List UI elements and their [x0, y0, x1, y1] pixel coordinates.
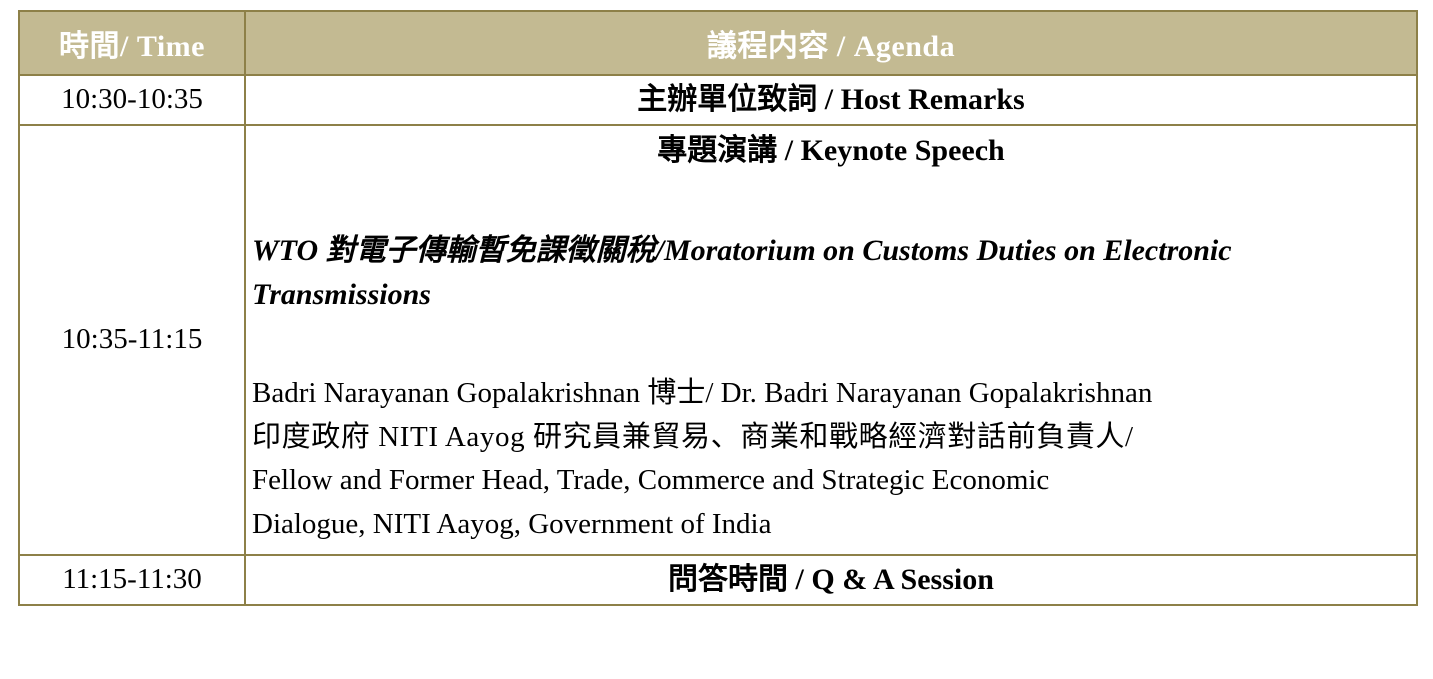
cell-agenda-qa-session: 問答時間 / Q & A Session: [245, 555, 1417, 605]
table-header-row: 時間/ Time 議程内容 / Agenda: [19, 11, 1417, 75]
table-row: 11:15-11:30 問答時間 / Q & A Session: [19, 555, 1417, 605]
column-header-agenda: 議程内容 / Agenda: [245, 11, 1417, 75]
table-row: 10:30-10:35 主辦單位致詞 / Host Remarks: [19, 75, 1417, 125]
cell-time-keynote: 10:35-11:15: [19, 125, 245, 556]
agenda-table: 時間/ Time 議程内容 / Agenda 10:30-10:35 主辦單位致…: [18, 10, 1418, 606]
keynote-spacer-top: [250, 171, 1412, 229]
speaker-affiliation-line-en-1: Fellow and Former Head, Trade, Commerce …: [252, 459, 1412, 503]
keynote-topic-title: WTO 對電子傳輸暫免課徵關稅/Moratorium on Customs Du…: [250, 229, 1412, 316]
speaker-affiliation-line-cjk: 印度政府 NITI Aayog 研究員兼貿易、商業和戰略經濟對話前負責人/: [252, 416, 1412, 460]
agenda-table-container: 時間/ Time 議程内容 / Agenda 10:30-10:35 主辦單位致…: [18, 10, 1416, 670]
speaker-name-line: Badri Narayanan Gopalakrishnan 博士/ Dr. B…: [252, 372, 1412, 416]
table-row: 10:35-11:15 專題演講 / Keynote Speech WTO 對電…: [19, 125, 1417, 556]
cell-time-qa-session: 11:15-11:30: [19, 555, 245, 605]
cell-time-host-remarks: 10:30-10:35: [19, 75, 245, 125]
column-header-time: 時間/ Time: [19, 11, 245, 75]
keynote-topic-line-1: WTO 對電子傳輸暫免課徵關稅/Moratorium on Customs Du…: [252, 234, 1096, 267]
cell-agenda-host-remarks: 主辦單位致詞 / Host Remarks: [245, 75, 1417, 125]
agenda-heading-keynote: 專題演講 / Keynote Speech: [250, 128, 1412, 172]
keynote-spacer-middle: [250, 316, 1412, 372]
keynote-block: 專題演講 / Keynote Speech WTO 對電子傳輸暫免課徵關稅/Mo…: [246, 126, 1416, 555]
agenda-title-host-remarks: 主辦單位致詞 / Host Remarks: [246, 76, 1416, 124]
agenda-title-qa-session: 問答時間 / Q & A Session: [246, 556, 1416, 604]
keynote-speaker-info: Badri Narayanan Gopalakrishnan 博士/ Dr. B…: [250, 372, 1412, 548]
speaker-affiliation-line-en-2: Dialogue, NITI Aayog, Government of Indi…: [252, 503, 1412, 547]
cell-agenda-keynote: 專題演講 / Keynote Speech WTO 對電子傳輸暫免課徵關稅/Mo…: [245, 125, 1417, 556]
